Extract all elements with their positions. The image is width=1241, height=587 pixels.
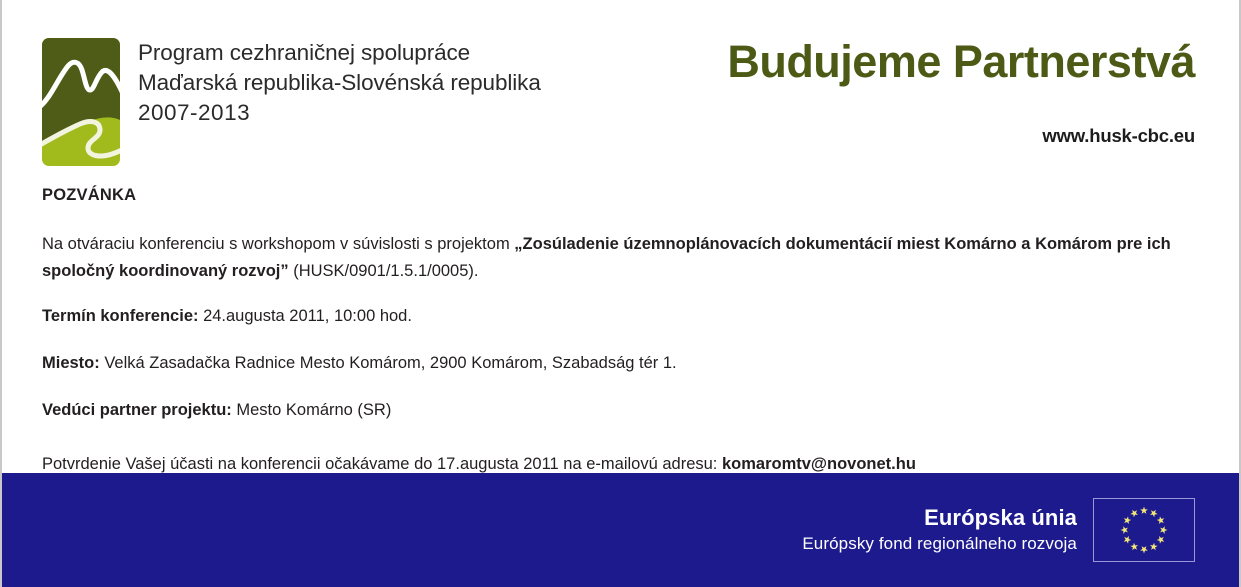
document-header: Program cezhraničnej spolupráce Maďarská…	[2, 0, 1239, 180]
detail-row-date: Termín konferencie: 24.augusta 2011, 10:…	[42, 304, 1204, 329]
eu-footer-band: Európska únia Európsky fond regionálneho…	[2, 473, 1239, 587]
detail-label-date: Termín konferencie:	[42, 307, 198, 325]
website-url[interactable]: www.husk-cbc.eu	[727, 125, 1195, 147]
detail-value-date: 24.augusta 2011, 10:00 hod.	[198, 307, 411, 325]
eu-title: Európska únia	[802, 505, 1077, 531]
detail-label-venue: Miesto:	[42, 354, 100, 372]
eu-flag-icon	[1093, 498, 1195, 562]
invitation-heading: POZVÁNKA	[42, 186, 1204, 205]
header-right-block: Budujeme Partnerstvá www.husk-cbc.eu	[727, 38, 1195, 147]
detail-value-lead-partner: Mesto Komárno (SR)	[232, 401, 392, 419]
invitation-body: POZVÁNKA Na otváraciu konferenciu s work…	[42, 186, 1204, 477]
detail-row-venue: Miesto: Velká Zasadačka Radnice Mesto Ko…	[42, 351, 1204, 376]
programme-name: Program cezhraničnej spolupráce Maďarská…	[138, 38, 541, 128]
page-title: Budujeme Partnerstvá	[727, 38, 1195, 85]
intro-paragraph: Na otváraciu konferenciu s workshopom v …	[42, 231, 1204, 284]
intro-prefix-text: Na otváraciu konferenciu s workshopom v …	[42, 235, 514, 253]
programme-line-1: Program cezhraničnej spolupráce	[138, 38, 541, 68]
detail-row-lead-partner: Vedúci partner projektu: Mesto Komárno (…	[42, 398, 1204, 423]
programme-line-2: Maďarská republika-Slovénská republika	[138, 68, 541, 98]
detail-label-lead-partner: Vedúci partner projektu:	[42, 401, 232, 419]
programme-branding: Program cezhraničnej spolupráce Maďarská…	[42, 38, 541, 166]
eu-subtitle: Európsky fond regionálneho rozvoja	[802, 533, 1077, 555]
contact-email[interactable]: komaromtv@novonet.hu	[722, 455, 916, 473]
husk-programme-logo-icon	[42, 38, 120, 166]
project-code-text: (HUSK/0901/1.5.1/0005).	[289, 262, 479, 280]
eu-footer-text: Európska únia Európsky fond regionálneho…	[802, 505, 1077, 555]
detail-value-venue: Velká Zasadačka Radnice Mesto Komárom, 2…	[100, 354, 677, 372]
programme-period: 2007-2013	[138, 98, 541, 128]
invitation-document: Program cezhraničnej spolupráce Maďarská…	[0, 0, 1241, 587]
confirmation-prefix-text: Potvrdenie Vašej účasti na konferencii o…	[42, 455, 722, 473]
